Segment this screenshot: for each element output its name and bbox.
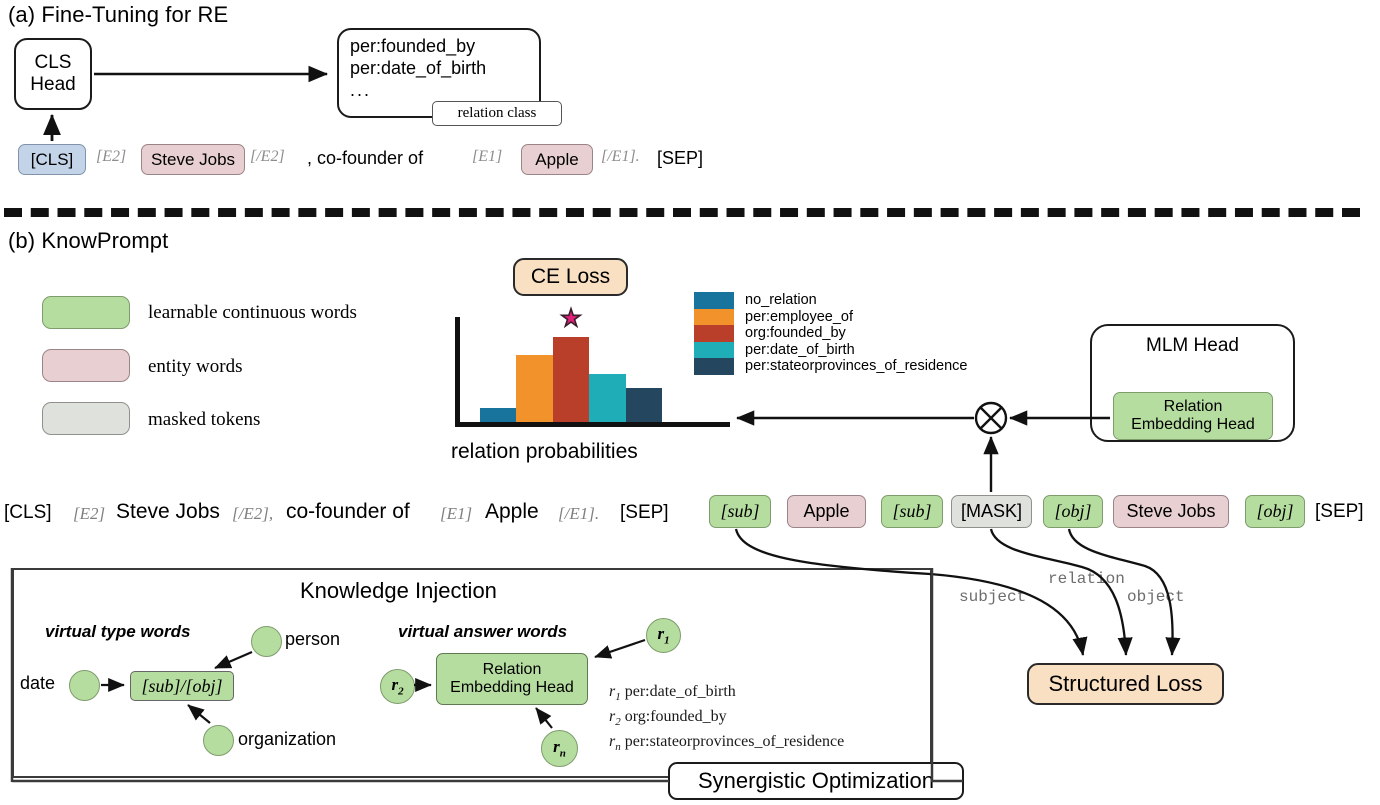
chart-legend-row: org:founded_by [694,325,967,342]
token-text-cofounder-a: , co-founder of [307,148,423,169]
chart-x-axis [455,422,730,427]
chart-legend-row: no_relation [694,292,967,309]
prompt-token-obj-2: [obj] [1245,495,1305,528]
chart-bars: ★ [480,320,662,422]
panel-b-title: (b) KnowPrompt [8,228,168,254]
type-node-organization [203,725,234,756]
cls-head-line-1: CLS [30,52,75,74]
synergistic-optimization-label: Synergistic Optimization [698,768,934,794]
reh-line-2: Embedding Head [1131,416,1255,434]
token-e1-open-a: [E1] [472,148,502,166]
key-label-masked-tokens: masked tokens [148,409,260,431]
token-cls-a: [CLS] [18,144,86,175]
reh-line-1: Relation [1131,398,1255,416]
relation-node-rn: rn [541,730,578,767]
prompt-token-mask: [MASK] [951,495,1032,528]
relation-legend-text-1: org:founded_by [625,708,727,725]
chart-bar [516,355,552,422]
type-label-organization: organization [238,729,336,750]
panel-divider [4,208,1360,217]
prompt-token-steve-jobs: Steve Jobs [1113,495,1229,528]
relation-node-r1: r1 [646,618,681,653]
relation-legend-text-0: per:date_of_birth [625,683,736,700]
token-e2-open-a: [E2] [96,148,126,166]
sentence-token-e2-open: [E2] [73,504,105,524]
sentence-token-apple: Apple [485,500,539,524]
chart-legend-label: per:date_of_birth [745,342,855,358]
chart-bar [553,337,589,422]
edge-label-object: object [1127,588,1185,606]
chart-bar [589,374,625,422]
relation-legend-text-2: per:stateorprovinces_of_residence [625,733,844,750]
synergistic-optimization-box: Synergistic Optimization [668,762,964,800]
key-swatch-masked-tokens [42,402,130,435]
chart-legend-swatch [694,325,734,342]
reh-ki-line-2: Embedding Head [450,679,574,697]
key-swatch-entity-words [42,349,130,382]
chart-legend-swatch [694,292,734,309]
token-sep-a: [SEP] [657,148,703,169]
type-node-person [251,626,282,657]
chart-legend-swatch [694,309,734,326]
structured-loss-box: Structured Loss [1027,663,1224,705]
sub-obj-slot-box: [sub]/[obj] [130,671,234,701]
chart-legend: no_relationper:employee_oforg:founded_by… [694,292,967,375]
sub-obj-slot-label: [sub]/[obj] [141,676,222,697]
relation-legend-row-1: r2 org:founded_by [609,706,844,731]
key-label-entity-words: entity words [148,356,242,378]
chart-legend-swatch [694,342,734,359]
chart-y-axis [455,317,460,427]
sentence-token-steve-jobs: Steve Jobs [116,500,220,524]
virtual-answer-words-label: virtual answer words [398,622,567,642]
relation-embedding-head-box: Relation Embedding Head [1113,392,1273,440]
chart-legend-label: no_relation [745,292,817,308]
relation-class-callout: relation class [432,101,562,126]
sentence-token-sep: [SEP] [620,502,669,524]
type-label-person: person [285,629,340,650]
prompt-token-sub-1: [sub] [709,495,771,528]
mlm-head-title: MLM Head [1146,335,1239,357]
sentence-token-cofounder: co-founder of [286,500,410,524]
relation-list-item-0: per:founded_by [350,36,486,58]
sentence-token-e1-close: [/E1]. [558,504,599,524]
reh-ki-line-1: Relation [450,661,574,679]
token-e2-close-a: [/E2] [250,148,285,166]
sentence-token-e2-close: [/E2], [232,504,273,524]
chart-legend-row: per:date_of_birth [694,342,967,359]
key-label-learnable-continuous-words: learnable continuous words [148,302,357,324]
chart-bar [626,388,662,422]
edge-label-subject: subject [959,588,1026,606]
token-e1-close-a: [/E1]. [601,148,640,166]
chart-legend-row: per:stateorprovinces_of_residence [694,358,967,375]
chart-x-axis-label: relation probabilities [451,440,638,464]
relation-legend-list: r1 per:date_of_birth r2 org:founded_by r… [609,681,844,755]
virtual-type-words-label: virtual type words [45,622,190,642]
panel-a-title: (a) Fine-Tuning for RE [8,2,228,28]
prompt-token-sep: [SEP] [1315,501,1364,523]
type-node-date [69,670,100,701]
relation-list-item-1: per:date_of_birth [350,58,486,80]
prompt-token-sub-2: [sub] [881,495,943,528]
relation-embedding-head-ki-box: Relation Embedding Head [436,653,588,705]
key-swatch-learnable-continuous-words [42,296,130,329]
chart-star-annotation: ★ [560,307,582,331]
relation-class-label: relation class [458,105,537,122]
chart-legend-label: per:stateorprovinces_of_residence [745,358,967,374]
edge-label-relation: relation [1048,570,1125,588]
prompt-token-apple: Apple [787,495,866,528]
chart-bar [480,408,516,422]
chart-legend-swatch [694,358,734,375]
type-label-date: date [20,673,55,694]
token-apple-a: Apple [521,144,593,175]
sentence-token-e1-open: [E1] [440,504,472,524]
knowledge-injection-title: Knowledge Injection [300,578,497,604]
relation-list-item-2: ... [350,80,486,102]
sentence-token-cls: [CLS] [4,502,52,524]
prompt-token-obj-1: [obj] [1043,495,1103,528]
cls-head-box: CLS Head [14,38,92,110]
cls-head-line-2: Head [30,74,75,96]
relation-legend-row-2: rn per:stateorprovinces_of_residence [609,731,844,756]
chart-legend-row: per:employee_of [694,309,967,326]
token-steve-jobs-a: Steve Jobs [141,144,245,175]
chart-legend-label: per:employee_of [745,309,853,325]
chart-legend-label: org:founded_by [745,325,846,341]
relation-node-r2: r2 [380,669,415,704]
ce-loss-box: CE Loss [513,258,628,296]
relation-legend-row-0: r1 per:date_of_birth [609,681,844,706]
